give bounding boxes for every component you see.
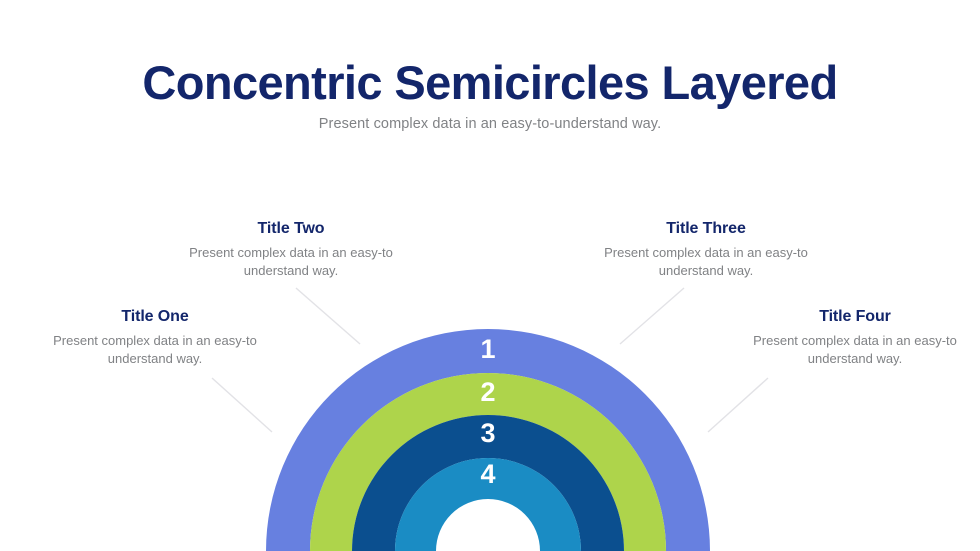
- leader-line-right-upper: [620, 288, 684, 344]
- callout-three-body: Present complex data in an easy-to under…: [591, 238, 821, 280]
- leader-line-right-lower: [708, 378, 768, 432]
- band-number-2: 2: [468, 377, 508, 408]
- band-number-3: 3: [468, 418, 508, 449]
- callout-three-title: Title Three: [591, 220, 821, 238]
- leader-line-left-upper: [296, 288, 360, 344]
- callout-four-title: Title Four: [740, 308, 970, 326]
- leader-line-left-lower: [212, 378, 272, 432]
- callout-one[interactable]: Title One Present complex data in an eas…: [40, 308, 270, 368]
- concentric-semicircles-diagram: 1 2 3 4: [0, 0, 980, 551]
- callout-two[interactable]: Title Two Present complex data in an eas…: [176, 220, 406, 280]
- callout-one-body: Present complex data in an easy-to under…: [40, 326, 270, 368]
- callout-two-body: Present complex data in an easy-to under…: [176, 238, 406, 280]
- band-number-1: 1: [468, 334, 508, 365]
- callout-two-title: Title Two: [176, 220, 406, 238]
- callout-four[interactable]: Title Four Present complex data in an ea…: [740, 308, 970, 368]
- callout-one-title: Title One: [40, 308, 270, 326]
- callout-four-body: Present complex data in an easy-to under…: [740, 326, 970, 368]
- band-number-4: 4: [468, 459, 508, 490]
- callout-three[interactable]: Title Three Present complex data in an e…: [591, 220, 821, 280]
